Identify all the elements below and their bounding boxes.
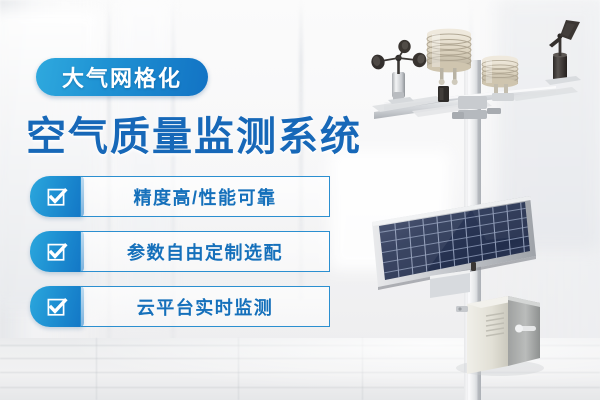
product-banner: 大气网格化 空气质量监测系统 精度高/性能可靠 xyxy=(0,0,600,400)
window-glow xyxy=(498,0,600,250)
feature-label: 精度高/性能可靠 xyxy=(133,184,276,210)
feature-item: 参数自由定制选配 xyxy=(30,231,330,272)
window-glow xyxy=(330,150,450,270)
checkbox-checked-icon xyxy=(30,286,84,327)
category-badge: 大气网格化 xyxy=(36,58,208,96)
floor-highlight xyxy=(0,338,600,400)
category-badge-label: 大气网格化 xyxy=(62,61,182,93)
page-title: 空气质量监测系统 xyxy=(26,104,362,162)
checkbox-checked-icon xyxy=(30,231,84,272)
feature-item: 云平台实时监测 xyxy=(30,286,330,327)
feature-item: 精度高/性能可靠 xyxy=(30,176,330,217)
feature-list: 精度高/性能可靠 参数自由定制选配 云平台实时监测 xyxy=(30,176,330,341)
checkbox-checked-icon xyxy=(30,176,84,217)
feature-label: 参数自由定制选配 xyxy=(127,239,283,265)
feature-text-box: 参数自由定制选配 xyxy=(80,231,330,272)
feature-text-box: 精度高/性能可靠 xyxy=(80,176,330,217)
feature-text-box: 云平台实时监测 xyxy=(80,286,330,327)
wall-panel-edge xyxy=(470,0,472,330)
feature-label: 云平台实时监测 xyxy=(137,294,274,320)
